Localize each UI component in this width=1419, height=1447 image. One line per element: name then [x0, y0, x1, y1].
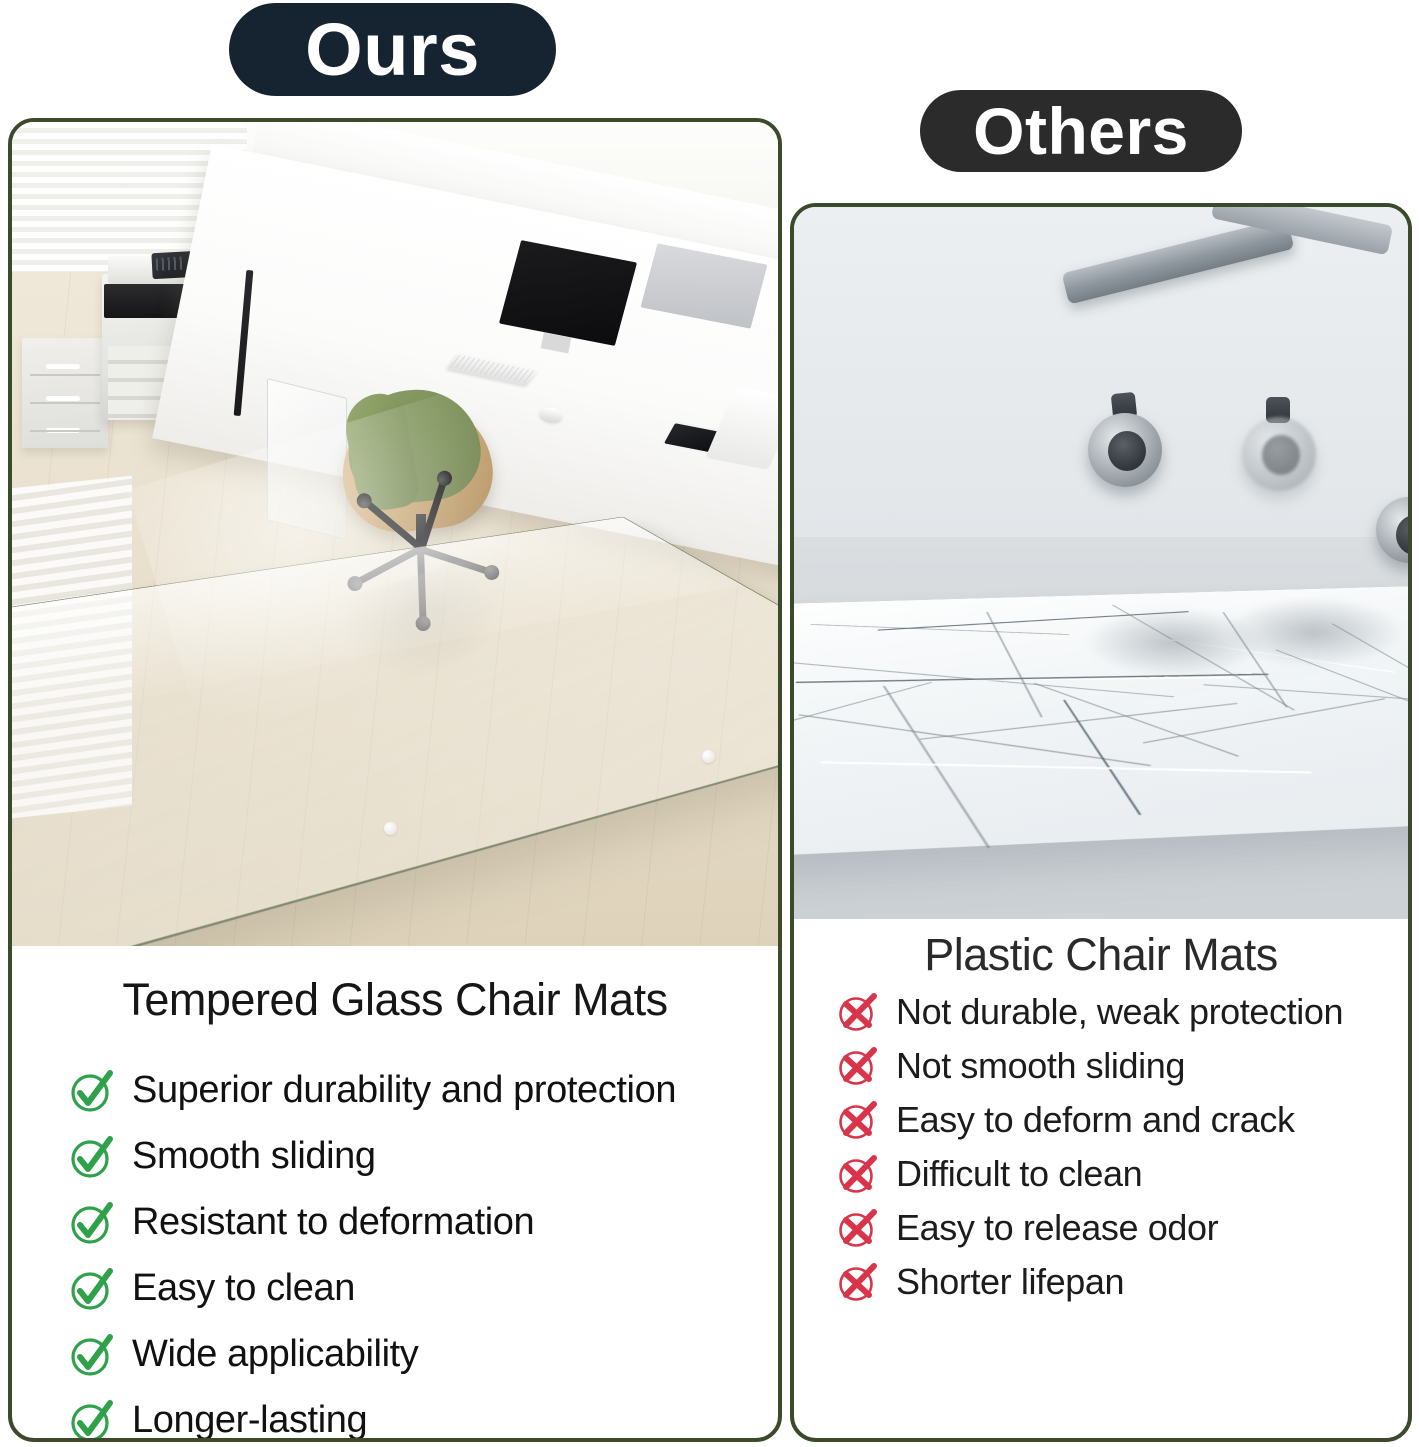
list-item-label: Not durable, weak protection: [896, 993, 1343, 1031]
others-feature-list: Not durable, weak protection Not smooth …: [794, 991, 1408, 1303]
others-comparison-card: Plastic Chair Mats Not durable, weak pro…: [790, 203, 1412, 1442]
list-item: Shorter lifepan: [836, 1261, 1408, 1303]
background-wall: [794, 207, 1408, 537]
list-item-label: Longer-lasting: [132, 1401, 367, 1441]
check-circle-icon: [68, 1068, 114, 1114]
list-item-label: Easy to clean: [132, 1269, 355, 1309]
list-item: Not durable, weak protection: [836, 991, 1408, 1033]
list-item-label: Smooth sliding: [132, 1137, 376, 1177]
cross-circle-icon: [836, 1045, 878, 1087]
ours-badge: Ours: [229, 3, 556, 96]
list-item: Resistant to deformation: [68, 1200, 778, 1246]
caster-wheel: [1242, 417, 1316, 491]
list-item-label: Not smooth sliding: [896, 1047, 1185, 1085]
list-item-label: Superior durability and protection: [132, 1071, 676, 1111]
caster-wheel: [1088, 413, 1162, 487]
cross-circle-icon: [836, 1207, 878, 1249]
others-title: Plastic Chair Mats: [794, 929, 1408, 981]
acrylic-screen: [267, 378, 347, 540]
cross-circle-icon: [836, 1261, 878, 1303]
others-product-photo: [794, 207, 1408, 919]
check-circle-icon: [68, 1332, 114, 1378]
list-item: Superior durability and protection: [68, 1068, 778, 1114]
list-item-label: Difficult to clean: [896, 1155, 1142, 1193]
ours-badge-label: Ours: [305, 13, 480, 87]
list-item-label: Easy to deform and crack: [896, 1101, 1295, 1139]
caster-shadow: [1224, 597, 1404, 667]
list-item-label: Easy to release odor: [896, 1209, 1218, 1247]
list-item-label: Shorter lifepan: [896, 1263, 1124, 1301]
list-item-label: Wide applicability: [132, 1335, 418, 1375]
check-circle-icon: [68, 1266, 114, 1312]
cross-circle-icon: [836, 991, 878, 1033]
list-item: Easy to release odor: [836, 1207, 1408, 1249]
cross-circle-icon: [836, 1153, 878, 1195]
ours-comparison-card: Tempered Glass Chair Mats Superior durab…: [8, 118, 782, 1442]
list-item-label: Resistant to deformation: [132, 1203, 534, 1243]
list-item: Not smooth sliding: [836, 1045, 1408, 1087]
list-item: Smooth sliding: [68, 1134, 778, 1180]
others-card-body: Plastic Chair Mats Not durable, weak pro…: [794, 929, 1408, 1303]
list-item: Difficult to clean: [836, 1153, 1408, 1195]
check-circle-icon: [68, 1200, 114, 1246]
others-badge: Others: [920, 90, 1242, 172]
ours-card-body: Tempered Glass Chair Mats Superior durab…: [12, 974, 778, 1442]
cabinet-handle: [46, 364, 80, 369]
check-circle-icon: [68, 1398, 114, 1442]
list-item: Wide applicability: [68, 1332, 778, 1378]
drawer-cabinet: [22, 338, 108, 448]
list-item: Easy to clean: [68, 1266, 778, 1312]
list-item: Longer-lasting: [68, 1398, 778, 1442]
cross-circle-icon: [836, 1099, 878, 1141]
others-badge-label: Others: [973, 98, 1189, 164]
glass-grip-dot: [384, 822, 397, 835]
ours-title: Tempered Glass Chair Mats: [12, 974, 778, 1026]
glass-grip-dot: [702, 750, 715, 763]
check-circle-icon: [68, 1134, 114, 1180]
ours-product-photo: [12, 122, 778, 946]
ours-feature-list: Superior durability and protection Smoot…: [12, 1068, 778, 1442]
list-item: Easy to deform and crack: [836, 1099, 1408, 1141]
